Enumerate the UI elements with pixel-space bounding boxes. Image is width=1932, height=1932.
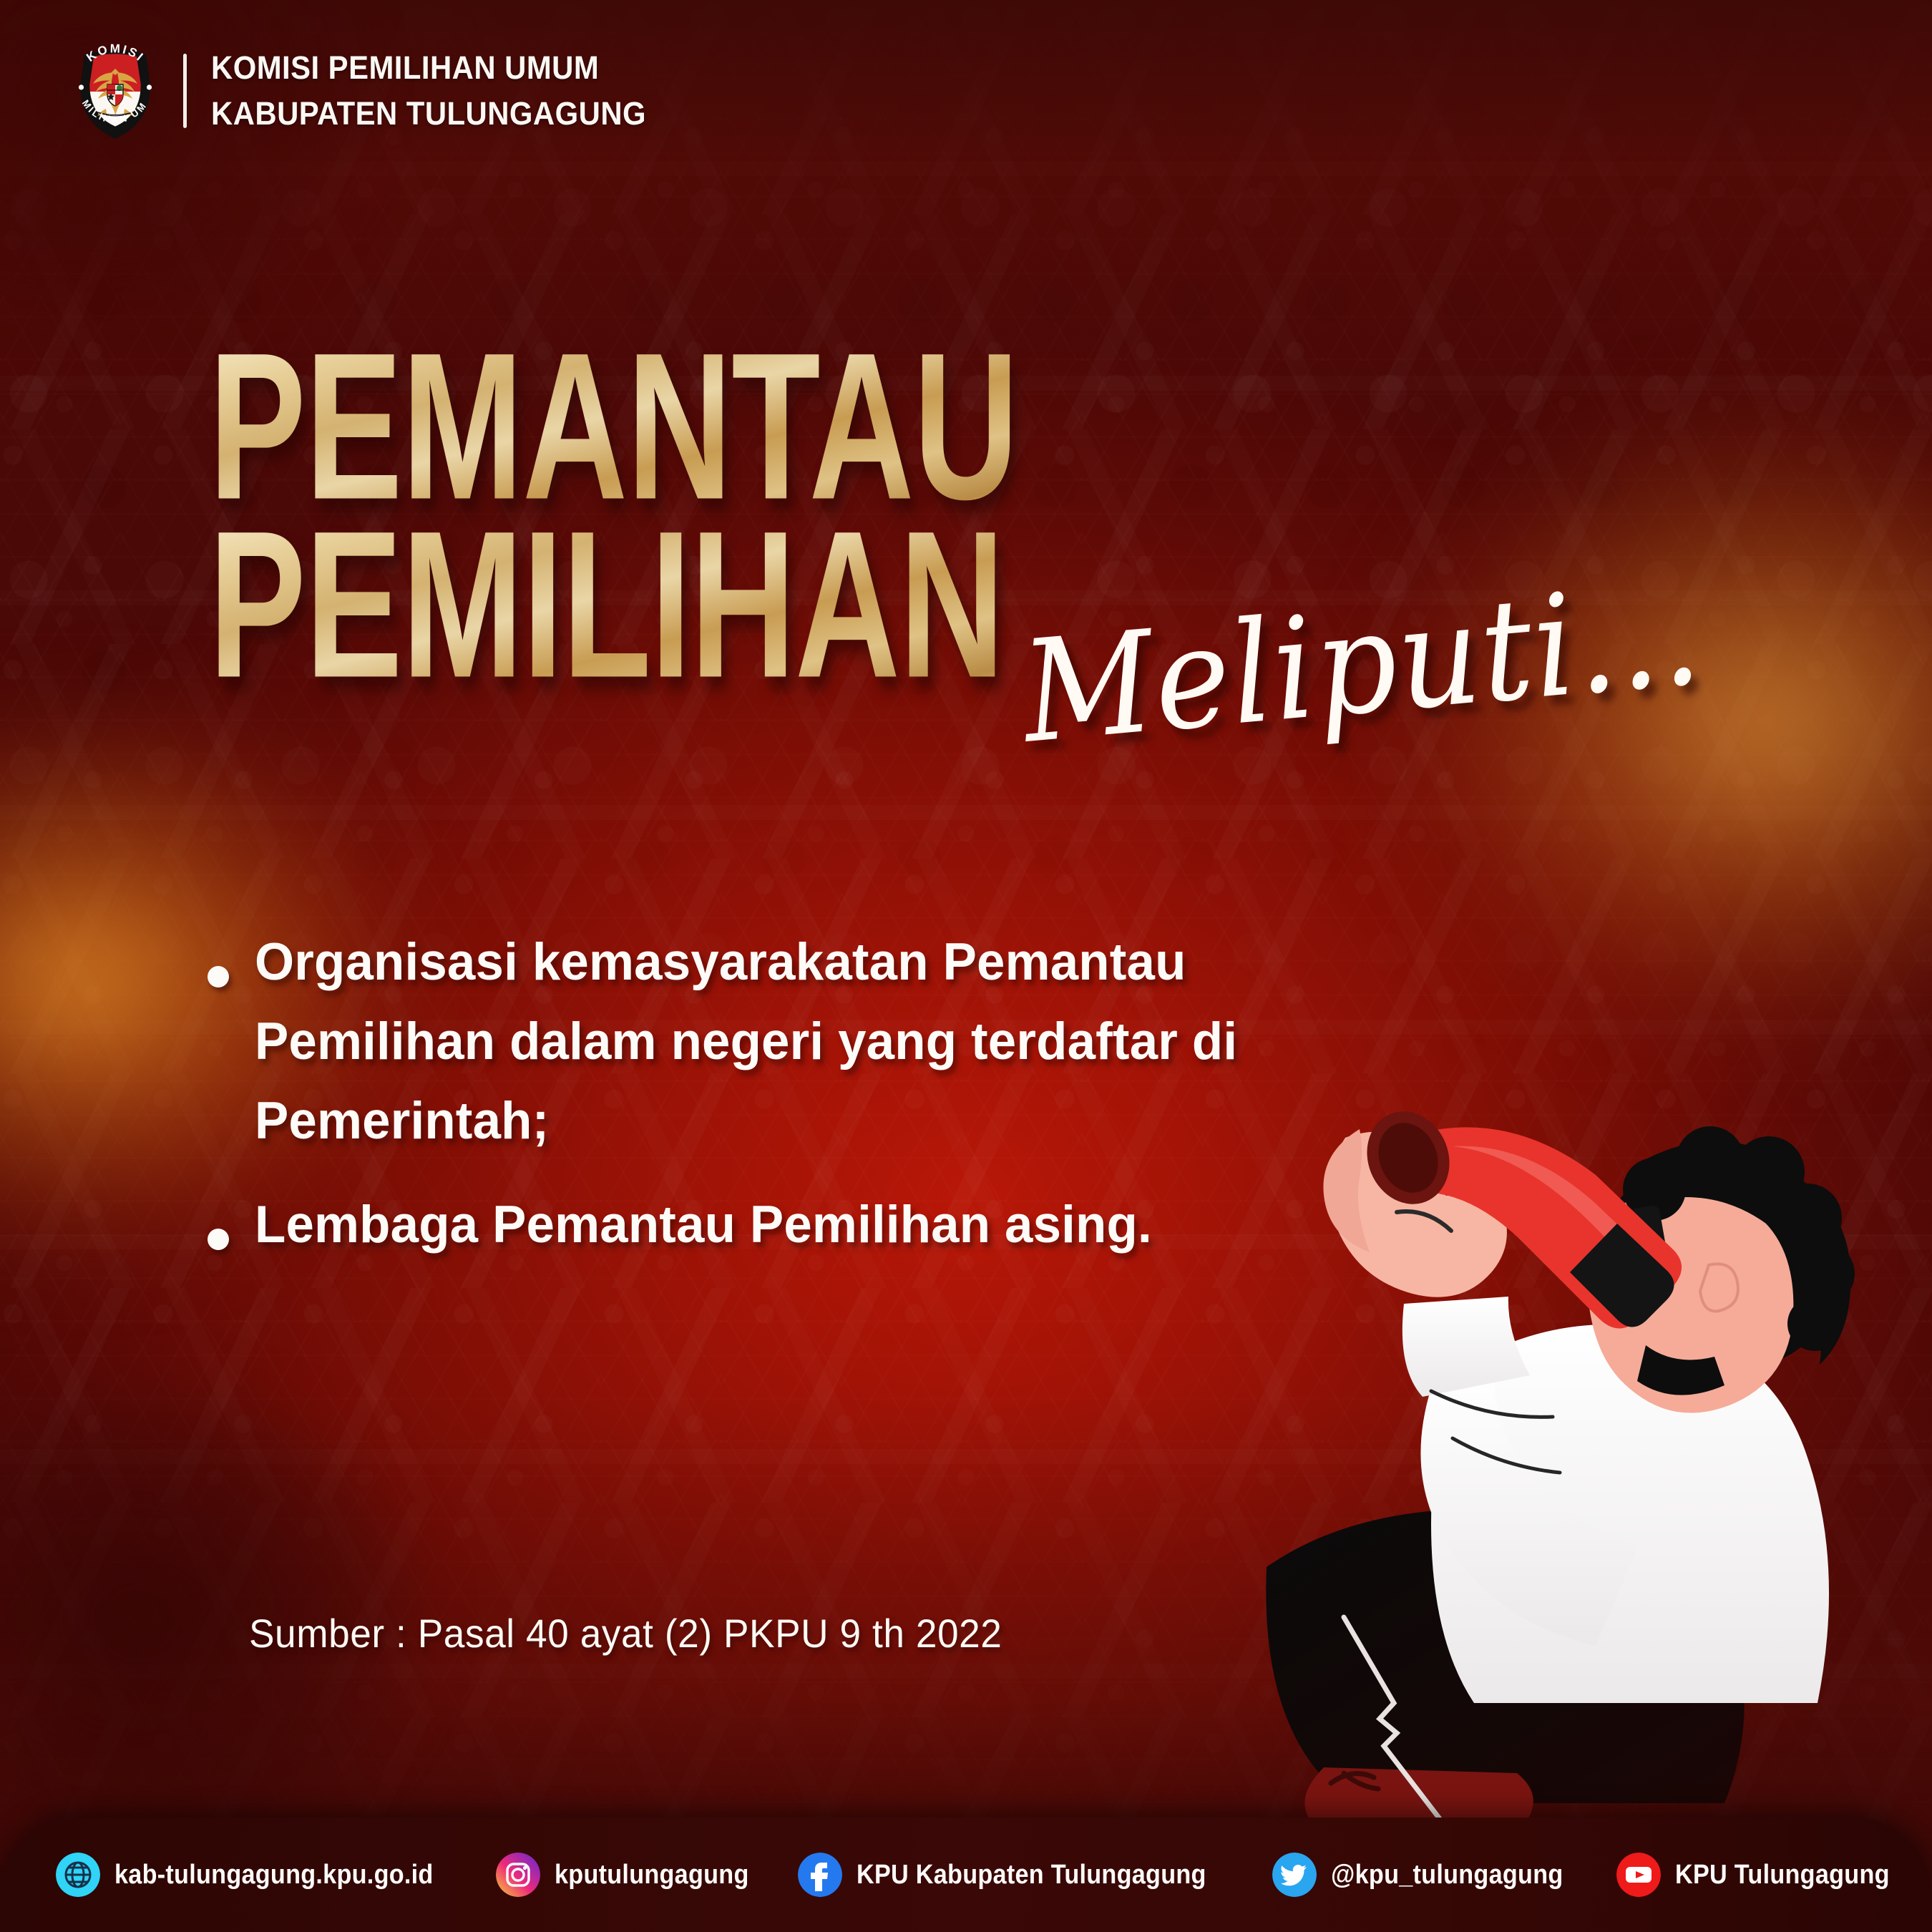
kpu-garuda-logo-icon: KOMISI PEMILIHAN UMUM — [72, 40, 159, 142]
footer-label-youtube: KPU Tulungagung — [1675, 1860, 1890, 1890]
header: KOMISI PEMILIHAN UMUM KOMISI PEMILIHAN U… — [72, 40, 679, 142]
list-item-label: Organisasi kemasyarakatan Pemantau Pemil… — [255, 923, 1393, 1161]
institution-region: KABUPATEN TULUNGAGUNG — [211, 95, 646, 132]
list-item: Organisasi kemasyarakatan Pemantau Pemil… — [208, 923, 1438, 1161]
footer-item-youtube[interactable]: KPU Tulungagung — [1616, 1853, 1913, 1897]
header-titles: KOMISI PEMILIHAN UMUM KABUPATEN TULUNGAG… — [211, 49, 679, 132]
list-item-label: Lembaga Pemantau Pemilihan asing. — [255, 1186, 1152, 1265]
footer-label-instagram: kputulungagung — [555, 1860, 749, 1890]
title-line-2: PEMILIHAN — [209, 514, 1018, 695]
footer-item-instagram[interactable]: kputulungagung — [496, 1853, 771, 1897]
footer-label-twitter: @kpu_tulungagung — [1331, 1860, 1563, 1890]
footer-item-website[interactable]: kab-tulungagung.kpu.go.id — [56, 1853, 469, 1897]
facebook-icon — [798, 1853, 842, 1897]
instagram-icon — [496, 1853, 540, 1897]
footer-label-website: kab-tulungagung.kpu.go.id — [114, 1860, 434, 1890]
source-citation: Sumber : Pasal 40 ayat (2) PKPU 9 th 202… — [249, 1610, 1002, 1657]
footer-label-facebook: KPU Kabupaten Tulungagung — [857, 1860, 1206, 1890]
footer-social-bar: kab-tulungagung.kpu.go.id kputulungagung — [0, 1818, 1932, 1932]
twitter-icon — [1272, 1853, 1317, 1897]
bullet-dot-icon — [208, 1229, 229, 1250]
poster-canvas: KOMISI PEMILIHAN UMUM KOMISI PEMILIHAN U… — [0, 0, 1932, 1932]
institution-name: KOMISI PEMILIHAN UMUM — [211, 49, 646, 87]
footer-item-facebook[interactable]: KPU Kabupaten Tulungagung — [798, 1853, 1245, 1897]
globe-icon — [56, 1853, 100, 1897]
youtube-icon — [1616, 1853, 1661, 1897]
bullet-list: Organisasi kemasyarakatan Pemantau Pemil… — [208, 923, 1438, 1289]
list-item: Lembaga Pemantau Pemilihan asing. — [208, 1186, 1438, 1265]
bullet-dot-icon — [208, 966, 229, 987]
header-divider — [183, 54, 187, 128]
footer-item-twitter[interactable]: @kpu_tulungagung — [1272, 1853, 1589, 1897]
